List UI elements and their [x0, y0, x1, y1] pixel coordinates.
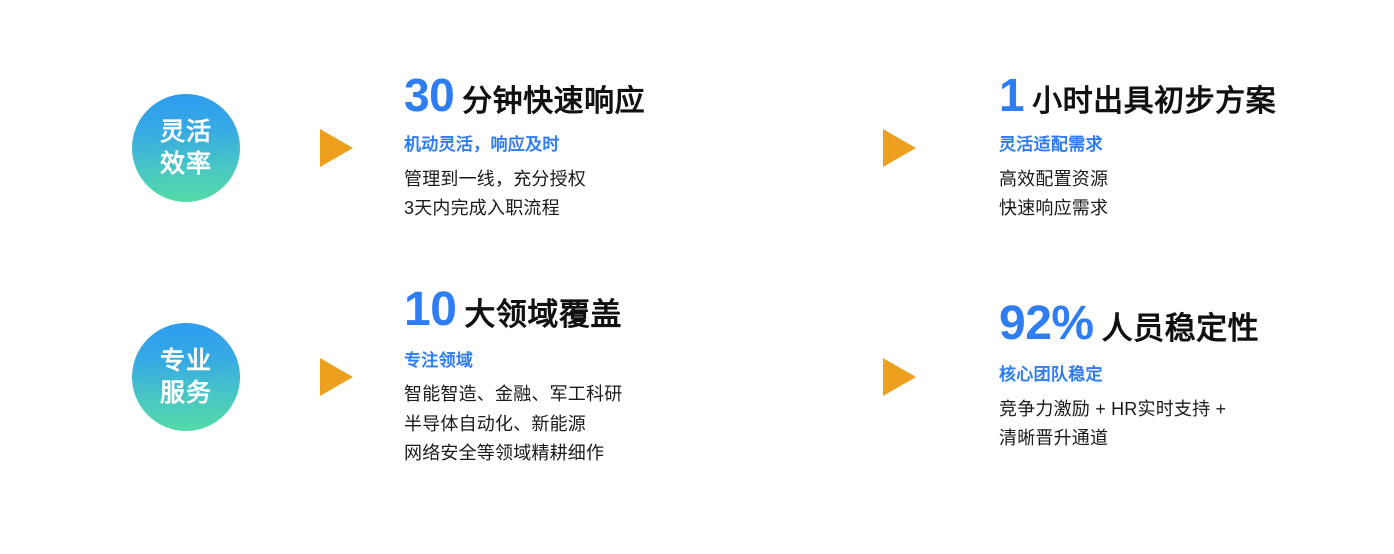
body-line: 智能智造、金融、军工科研	[404, 380, 794, 409]
heading-number: 92%	[999, 300, 1094, 348]
row-professional-service: 专业 服务 10 大领域覆盖 专注领域 智能智造、金融、军工科研 半导体自动化、…	[0, 262, 1394, 492]
badge-line-1: 灵活	[160, 116, 212, 148]
badge-line-2: 服务	[160, 377, 212, 409]
body-line: 半导体自动化、新能源	[404, 410, 794, 439]
triangle-right-icon	[883, 129, 916, 167]
panel-heading: 10 大领域覆盖	[404, 286, 794, 334]
panel-subtitle: 专注领域	[404, 348, 794, 374]
heading-number: 10	[404, 286, 456, 334]
body-line: 3天内完成入职流程	[404, 194, 794, 223]
body-line: 竞争力激励 + HR实时支持 +	[999, 395, 1389, 424]
badge-line-2: 效率	[160, 148, 212, 180]
badge-flexible-efficiency: 灵活 效率	[132, 94, 240, 202]
panel-heading: 92% 人员稳定性	[999, 300, 1389, 348]
panel-initial-plan: 1 小时出具初步方案 灵活适配需求 高效配置资源 快速响应需求	[999, 72, 1389, 223]
heading-text: 分钟快速响应	[462, 87, 645, 117]
arrow-slot-3	[286, 358, 386, 396]
panel-heading: 30 分钟快速响应	[404, 72, 794, 118]
heading-number: 30	[404, 72, 454, 118]
panel-body: 智能智造、金融、军工科研 半导体自动化、新能源 网络安全等领域精耕细作	[404, 380, 794, 468]
panel-body: 竞争力激励 + HR实时支持 + 清晰晋升通道	[999, 395, 1389, 454]
body-line: 管理到一线，充分授权	[404, 165, 794, 194]
body-line: 网络安全等领域精耕细作	[404, 439, 794, 468]
body-line: 快速响应需求	[999, 194, 1389, 223]
body-line: 清晰晋升通道	[999, 424, 1389, 453]
panel-subtitle: 核心团队稳定	[999, 362, 1389, 388]
heading-number: 1	[999, 72, 1024, 118]
body-line: 高效配置资源	[999, 165, 1389, 194]
arrow-slot-2	[849, 129, 949, 167]
badge-line-1: 专业	[160, 345, 212, 377]
panel-staff-stability: 92% 人员稳定性 核心团队稳定 竞争力激励 + HR实时支持 + 清晰晋升通道	[999, 300, 1389, 453]
heading-text: 人员稳定性	[1102, 313, 1260, 344]
triangle-right-icon	[320, 358, 353, 396]
panel-body: 高效配置资源 快速响应需求	[999, 165, 1389, 224]
triangle-right-icon	[883, 358, 916, 396]
panel-subtitle: 灵活适配需求	[999, 132, 1389, 158]
row-flexible-efficiency: 灵活 效率 30 分钟快速响应 机动灵活，响应及时 管理到一线，充分授权 3天内…	[0, 33, 1394, 263]
arrow-slot-1	[286, 129, 386, 167]
badge-slot-professional: 专业 服务	[0, 323, 302, 431]
badge-slot-flexible: 灵活 效率	[0, 94, 302, 202]
arrow-slot-4	[849, 358, 949, 396]
panel-subtitle: 机动灵活，响应及时	[404, 132, 794, 158]
heading-text: 小时出具初步方案	[1032, 87, 1276, 117]
triangle-right-icon	[320, 129, 353, 167]
panel-response-time: 30 分钟快速响应 机动灵活，响应及时 管理到一线，充分授权 3天内完成入职流程	[404, 72, 794, 223]
panel-heading: 1 小时出具初步方案	[999, 72, 1389, 118]
badge-professional-service: 专业 服务	[132, 323, 240, 431]
infographic-canvas: 灵活 效率 30 分钟快速响应 机动灵活，响应及时 管理到一线，充分授权 3天内…	[0, 0, 1394, 554]
panel-body: 管理到一线，充分授权 3天内完成入职流程	[404, 165, 794, 224]
panel-domain-coverage: 10 大领域覆盖 专注领域 智能智造、金融、军工科研 半导体自动化、新能源 网络…	[404, 286, 794, 468]
heading-text: 大领域覆盖	[464, 299, 622, 330]
